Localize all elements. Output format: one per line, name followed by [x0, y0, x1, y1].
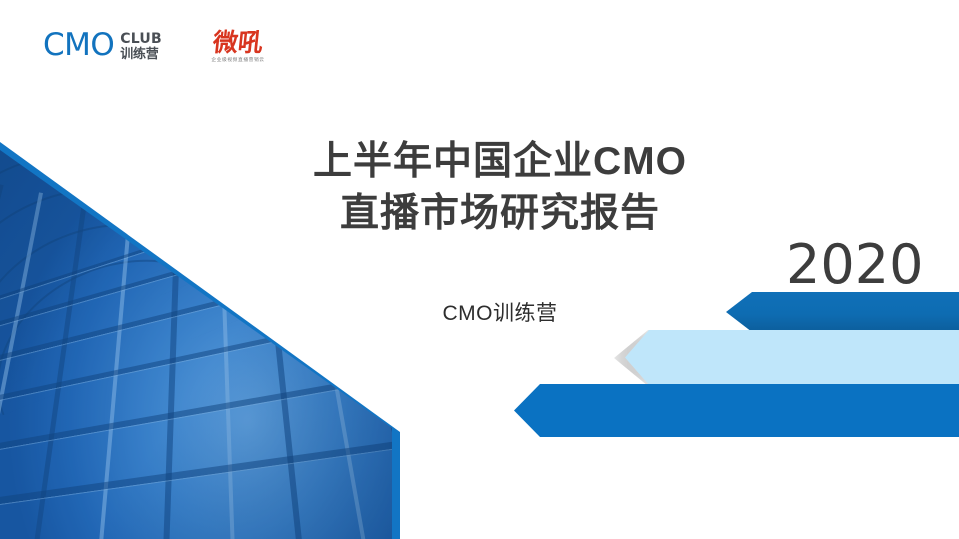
- cmo-club-logo: CMO CLUB 训练营: [43, 30, 162, 61]
- title-line-1: 上半年中国企业CMO: [240, 136, 760, 188]
- weihou-wordmark: 微吼: [212, 30, 265, 55]
- cmo-wordmark: CMO: [43, 30, 114, 61]
- chevron-band-light: [625, 330, 959, 385]
- cmo-logo-club-label: CLUB: [120, 32, 162, 46]
- weihou-tagline: 企业级视频直播营销云: [211, 58, 264, 63]
- photo-panel: [0, 0, 400, 539]
- chevron-band-dark: [726, 292, 959, 332]
- photo-blue-tint: [0, 0, 400, 539]
- weihou-logo: 微吼 企业级视频直播营销云: [210, 28, 266, 63]
- year-label: 2020: [786, 238, 923, 292]
- title-line-2: 直播市场研究报告: [240, 188, 760, 240]
- subtitle: CMO训练营: [240, 297, 760, 327]
- presentation-cover-slide: CMO CLUB 训练营 微吼 企业级视频直播营销云 上半年中国企业CMO 直播…: [0, 0, 959, 539]
- logo-bar: CMO CLUB 训练营 微吼 企业级视频直播营销云: [43, 28, 266, 63]
- cmo-logo-subtext: CLUB 训练营: [120, 31, 162, 60]
- cmo-logo-training-label: 训练营: [120, 47, 162, 60]
- chevron-band-solid: [514, 384, 959, 437]
- page-title: 上半年中国企业CMO 直播市场研究报告: [240, 136, 760, 240]
- glass-atrium-photo: [0, 0, 400, 539]
